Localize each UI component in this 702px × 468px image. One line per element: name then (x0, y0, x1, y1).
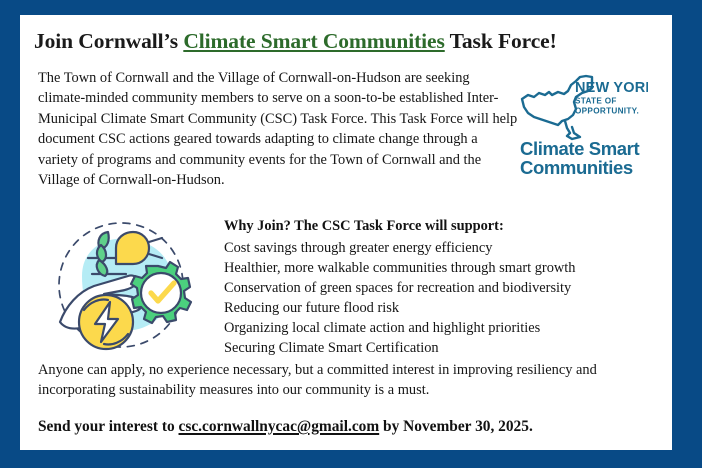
benefit-item: Reducing our future flood risk (224, 298, 654, 318)
svg-text:Communities: Communities (520, 157, 633, 178)
benefits-section: Why Join? The CSC Task Force will suppor… (34, 212, 654, 358)
logo-program-wordmark: Climate Smart Communities (520, 138, 639, 178)
benefits-heading: Why Join? The CSC Task Force will suppor… (224, 216, 654, 236)
svg-text:NEW YORK: NEW YORK (575, 80, 648, 96)
title-highlight-climate-smart-communities: Climate Smart Communities (183, 29, 444, 53)
benefit-item: Healthier, more walkable communities thr… (224, 258, 654, 278)
benefit-item: Cost savings through greater energy effi… (224, 238, 654, 258)
benefits-list-wrapper: Why Join? The CSC Task Force will suppor… (224, 216, 654, 358)
intro-paragraph: The Town of Cornwall and the Village of … (34, 68, 518, 191)
intro-section: The Town of Cornwall and the Village of … (34, 68, 654, 191)
new-york-climate-smart-communities-logo: NEW YORK STATE OF OPPORTUNITY. Climate S… (518, 71, 648, 179)
svg-text:Climate Smart: Climate Smart (520, 138, 639, 159)
svg-text:OPPORTUNITY.: OPPORTUNITY. (575, 106, 639, 115)
benefit-item: Organizing local climate action and high… (224, 318, 654, 338)
flyer-sheet: Join Cornwall’s Climate Smart Communitie… (20, 15, 672, 450)
flyer-poster: Join Cornwall’s Climate Smart Communitie… (0, 0, 702, 468)
contact-text-after: by November 30, 2025. (379, 418, 533, 435)
contact-line: Send your interest to csc.cornwallnycac@… (38, 418, 533, 436)
logo-state-wordmark: NEW YORK STATE OF OPPORTUNITY. (575, 80, 648, 116)
contact-email-link[interactable]: csc.cornwallnycac@gmail.com (179, 418, 380, 435)
title-text-after: Task Force! (445, 29, 557, 53)
benefit-item: Securing Climate Smart Certification (224, 338, 654, 358)
title-text-before: Join Cornwall’s (34, 29, 183, 53)
page-title: Join Cornwall’s Climate Smart Communitie… (34, 29, 654, 54)
clean-energy-eco-illustration (40, 214, 202, 356)
benefit-item: Conservation of green spaces for recreat… (224, 278, 654, 298)
svg-text:STATE OF: STATE OF (575, 96, 617, 105)
contact-text-before: Send your interest to (38, 418, 179, 435)
lightning-energy-icon (79, 295, 133, 349)
closing-paragraph: Anyone can apply, no experience necessar… (34, 360, 654, 401)
